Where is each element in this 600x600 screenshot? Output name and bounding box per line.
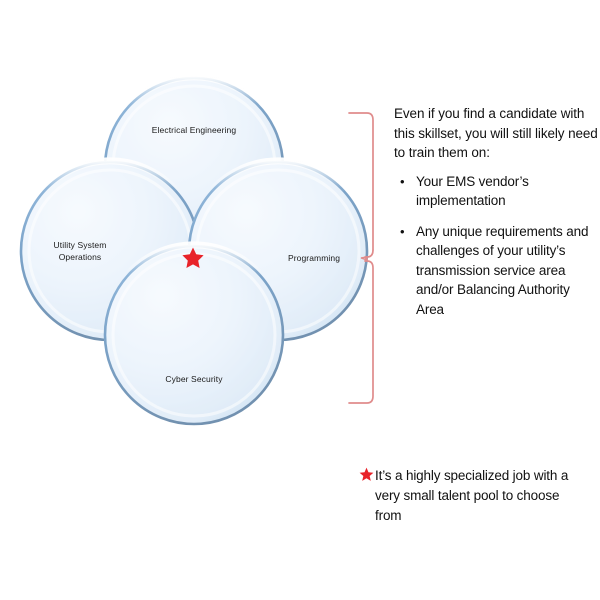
bullet-glyph-icon: • (394, 172, 416, 191)
star-note: It’s a highly specialized job with a ver… (358, 466, 588, 526)
callout-intro-paragraph: Even if you find a candidate with this s… (394, 104, 598, 163)
star-note-text: It’s a highly specialized job with a ver… (375, 466, 588, 526)
callout-bullet-item-2: • Any unique requirements and challenges… (394, 222, 598, 320)
callout-bullet-text-1: Your EMS vendor’s implementation (416, 172, 598, 211)
callout-brace (340, 100, 390, 420)
callout-bullet-item-1: • Your EMS vendor’s implementation (394, 172, 598, 211)
venn-diagram-svg (0, 0, 390, 450)
bullet-glyph-icon: • (394, 222, 416, 241)
venn-circle-cyber-security (105, 245, 283, 424)
venn-diagram: Electrical Engineering Utility SystemOpe… (0, 0, 390, 450)
slide-canvas: Electrical Engineering Utility SystemOpe… (0, 0, 600, 600)
star-icon (358, 467, 375, 482)
callout-bullet-text-2: Any unique requirements and challenges o… (416, 222, 598, 320)
callout-text-block: Even if you find a candidate with this s… (394, 104, 598, 330)
